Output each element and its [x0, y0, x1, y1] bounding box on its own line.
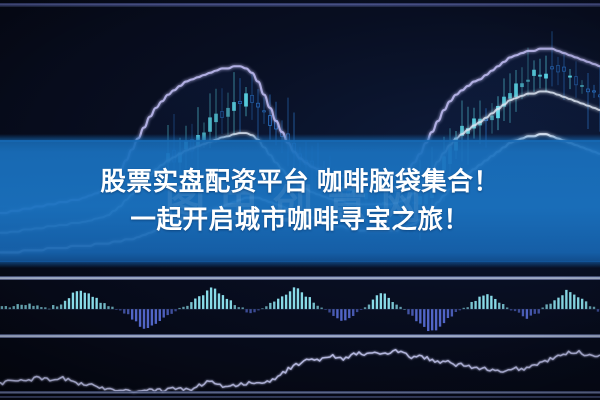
top-rule-secondary	[0, 6, 600, 7]
panel-separator-3	[0, 391, 600, 394]
banner-fade-bottom	[0, 261, 600, 268]
macd-histogram-svg	[0, 280, 600, 336]
headline-banner: 图虫创意网 股票实盘配资平台 咖啡脑袋集合！一起开启城市咖啡寻宝之旅！	[0, 140, 600, 262]
macd-panel	[0, 280, 600, 336]
panel-separator-4	[0, 396, 600, 398]
headline-text: 股票实盘配资平台 咖啡脑袋集合！一起开启城市咖啡寻宝之旅！	[22, 163, 578, 239]
stock-chart-banner-image: 图虫创意网 股票实盘配资平台 咖啡脑袋集合！一起开启城市咖啡寻宝之旅！	[0, 0, 600, 400]
